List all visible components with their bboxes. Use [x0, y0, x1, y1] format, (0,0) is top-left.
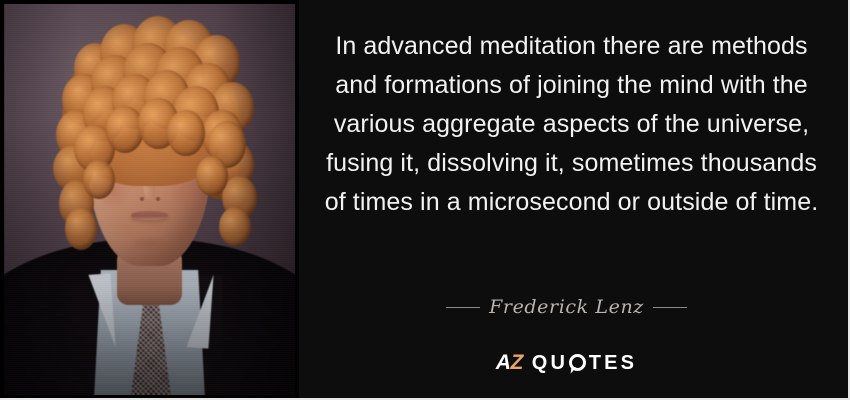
portrait-vignette [4, 4, 295, 395]
author-attribution: Frederick Lenz [299, 295, 834, 318]
quote-panel: In advanced meditation there are methods… [299, 0, 848, 400]
logo-word-tes: TES [589, 352, 638, 374]
quote-card: In advanced meditation there are methods… [0, 0, 850, 400]
speech-bubble-icon [569, 354, 586, 371]
logo-letter-z: Z [510, 351, 522, 374]
author-portrait-image [4, 4, 295, 395]
attribution-dash-right [653, 307, 687, 308]
portrait-panel [0, 0, 299, 400]
quote-text: In advanced meditation there are methods… [321, 27, 822, 222]
logo-wordmark: QUTES [532, 353, 637, 373]
logo-letter-a: A [496, 351, 511, 374]
azquotes-logo[interactable]: AZQUTES [299, 352, 834, 373]
logo-word-qu: QU [532, 352, 568, 374]
attribution-dash-left [446, 307, 480, 308]
logo-az-mark: AZ [496, 351, 523, 374]
author-name: Frederick Lenz [489, 296, 644, 318]
